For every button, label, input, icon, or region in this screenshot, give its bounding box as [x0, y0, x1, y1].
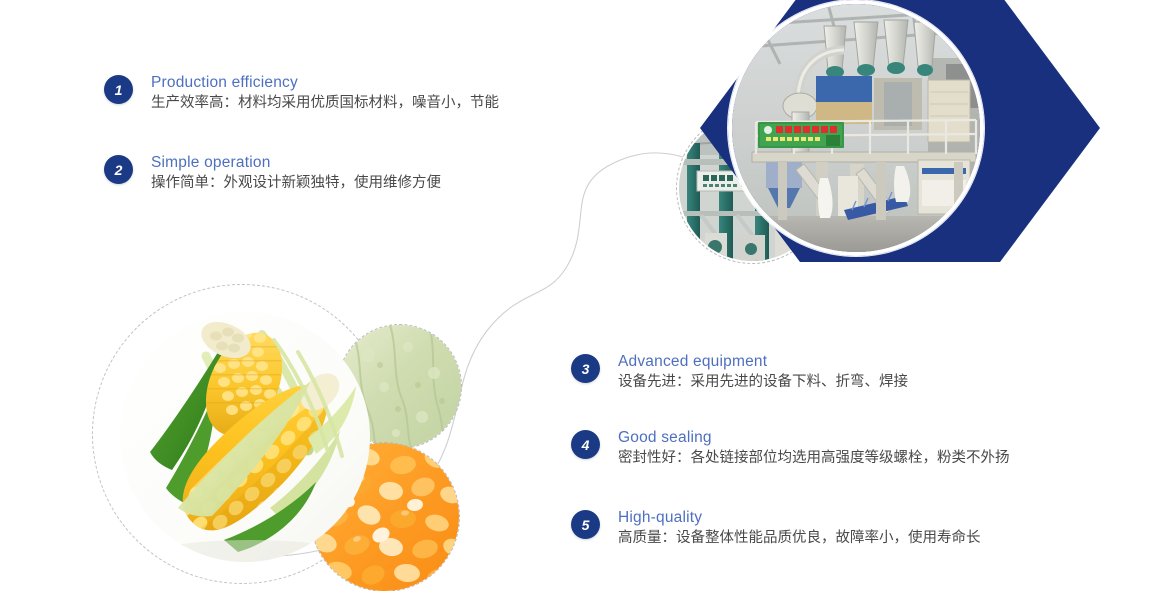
feature-number-badge-1: 1 [104, 75, 133, 104]
feature-text-5: High-quality 高质量：设备整体性能品质优良，故障率小，使用寿命长 [618, 508, 981, 549]
feature-description-2: 操作简单：外观设计新颖独特，使用维修方便 [151, 173, 441, 194]
feature-title-1: Production efficiency [151, 73, 499, 92]
feature-item-1[interactable]: 1 Production efficiency 生产效率高：材料均采用优质国标材… [104, 73, 499, 114]
feature-number-badge-4: 4 [571, 430, 600, 459]
feature-description-3: 设备先进：采用先进的设备下料、折弯、焊接 [618, 372, 908, 393]
feature-description-4: 密封性好：各处链接部位均选用高强度等级螺栓，粉类不外扬 [618, 448, 1010, 469]
feature-item-5[interactable]: 5 High-quality 高质量：设备整体性能品质优良，故障率小，使用寿命长 [571, 508, 981, 549]
feature-text-2: Simple operation 操作简单：外观设计新颖独特，使用维修方便 [151, 153, 441, 194]
feature-item-2[interactable]: 2 Simple operation 操作简单：外观设计新颖独特，使用维修方便 [104, 153, 441, 194]
feature-item-3[interactable]: 3 Advanced equipment 设备先进：采用先进的设备下料、折弯、焊… [571, 352, 908, 393]
corn-photo-group [92, 282, 492, 591]
feature-text-3: Advanced equipment 设备先进：采用先进的设备下料、折弯、焊接 [618, 352, 908, 393]
flour-milling-plant-photo [728, 0, 984, 256]
fresh-corn-photo [120, 312, 370, 562]
feature-text-1: Production efficiency 生产效率高：材料均采用优质国标材料，… [151, 73, 499, 114]
feature-number-badge-2: 2 [104, 155, 133, 184]
infographic-canvas: 1 Production efficiency 生产效率高：材料均采用优质国标材… [0, 0, 1154, 591]
feature-description-5: 高质量：设备整体性能品质优良，故障率小，使用寿命长 [618, 528, 981, 549]
feature-number-badge-5: 5 [571, 510, 600, 539]
feature-title-4: Good sealing [618, 428, 1010, 447]
feature-description-1: 生产效率高：材料均采用优质国标材料，噪音小，节能 [151, 93, 499, 114]
feature-text-4: Good sealing 密封性好：各处链接部位均选用高强度等级螺栓，粉类不外扬 [618, 428, 1010, 469]
feature-title-5: High-quality [618, 508, 981, 527]
feature-title-3: Advanced equipment [618, 352, 908, 371]
hexagon-photo-group [700, 0, 1100, 262]
feature-title-2: Simple operation [151, 153, 441, 172]
feature-number-badge-3: 3 [571, 354, 600, 383]
feature-item-4[interactable]: 4 Good sealing 密封性好：各处链接部位均选用高强度等级螺栓，粉类不… [571, 428, 1010, 469]
